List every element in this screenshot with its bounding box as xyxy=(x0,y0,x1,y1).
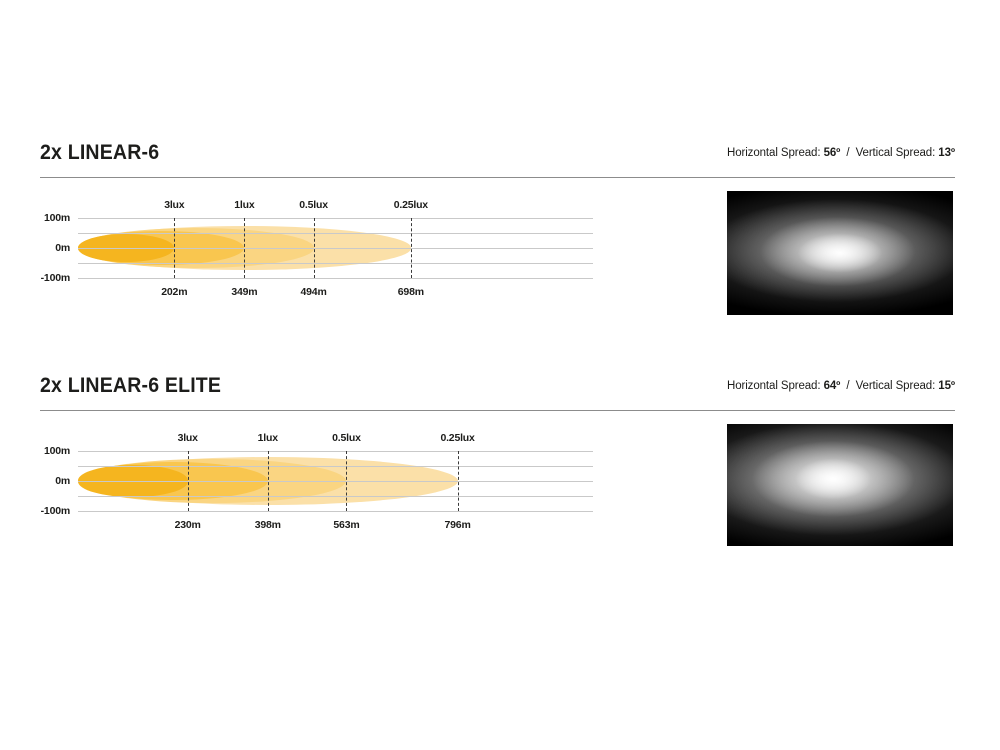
y-axis-tick-label: 100m xyxy=(10,446,70,457)
horizontal-spread-value: 64º xyxy=(824,380,841,392)
lux-level-label: 0.25lux xyxy=(394,199,428,211)
product-block-linear-6: 2x LINEAR-6 Horizontal Spread: 56º / Ver… xyxy=(0,140,1000,178)
beam-pattern-photo xyxy=(727,191,953,315)
gridline xyxy=(78,248,593,249)
product-header: 2x LINEAR-6 ELITE Horizontal Spread: 64º… xyxy=(0,373,1000,411)
lux-distance-label: 398m xyxy=(255,519,281,531)
gridline xyxy=(78,511,593,512)
lux-distance-label: 202m xyxy=(161,286,187,298)
plot-area xyxy=(78,218,593,278)
product-block-linear-6-elite: 2x LINEAR-6 ELITE Horizontal Spread: 64º… xyxy=(0,373,1000,411)
spread-info: Horizontal Spread: 64º / Vertical Spread… xyxy=(727,378,955,394)
gridline xyxy=(78,218,593,219)
lux-distance-label: 563m xyxy=(333,519,359,531)
lux-tick-line xyxy=(411,218,412,278)
lux-level-label: 3lux xyxy=(178,432,198,444)
spread-separator: / xyxy=(843,378,852,394)
gridline xyxy=(78,466,593,467)
lux-tick-line xyxy=(346,451,347,511)
vertical-spread-value: 15º xyxy=(938,380,955,392)
gridline xyxy=(78,481,593,482)
y-axis-tick-label: 0m xyxy=(10,476,70,487)
spread-separator: / xyxy=(843,145,852,161)
horizontal-spread-value: 56º xyxy=(824,147,841,159)
lux-tick-line xyxy=(314,218,315,278)
lux-level-label: 0.5lux xyxy=(299,199,328,211)
vertical-spread-value: 13º xyxy=(938,147,955,159)
product-header: 2x LINEAR-6 Horizontal Spread: 56º / Ver… xyxy=(0,140,1000,178)
vertical-spread-label: Vertical Spread: xyxy=(856,380,936,392)
y-axis-tick-label: -100m xyxy=(10,506,70,517)
spread-info: Horizontal Spread: 56º / Vertical Spread… xyxy=(727,145,955,161)
page-title: 2x LINEAR-6 ELITE xyxy=(40,373,221,398)
lux-tick-line xyxy=(244,218,245,278)
beam-distance-chart: 100m0m-100m3lux202m1lux349m0.5lux494m0.2… xyxy=(0,178,640,318)
beam-comparison-page: 2x LINEAR-6 Horizontal Spread: 56º / Ver… xyxy=(0,0,1000,750)
horizontal-spread-label: Horizontal Spread: xyxy=(727,147,820,159)
lux-distance-label: 796m xyxy=(445,519,471,531)
lux-tick-line xyxy=(268,451,269,511)
lux-level-label: 1lux xyxy=(234,199,254,211)
y-axis-labels: 100m0m-100m xyxy=(8,218,70,278)
y-axis-tick-label: -100m xyxy=(10,273,70,284)
y-axis-labels: 100m0m-100m xyxy=(8,451,70,511)
beam-distance-chart: 100m0m-100m3lux230m1lux398m0.5lux563m0.2… xyxy=(0,411,640,551)
beam-glow xyxy=(727,191,953,315)
gridline xyxy=(78,451,593,452)
lux-level-label: 0.25lux xyxy=(440,432,474,444)
y-axis-tick-label: 0m xyxy=(10,243,70,254)
lux-distance-label: 230m xyxy=(175,519,201,531)
lux-level-label: 1lux xyxy=(258,432,278,444)
lux-tick-line xyxy=(188,451,189,511)
vertical-spread-label: Vertical Spread: xyxy=(856,147,936,159)
lux-level-label: 0.5lux xyxy=(332,432,361,444)
horizontal-spread-label: Horizontal Spread: xyxy=(727,380,820,392)
beam-glow xyxy=(727,424,953,546)
gridline xyxy=(78,263,593,264)
lux-distance-label: 698m xyxy=(398,286,424,298)
page-title: 2x LINEAR-6 xyxy=(40,140,159,165)
gridline xyxy=(78,496,593,497)
lux-distance-label: 349m xyxy=(231,286,257,298)
gridline xyxy=(78,278,593,279)
gridline xyxy=(78,233,593,234)
lux-level-label: 3lux xyxy=(164,199,184,211)
beam-pattern-photo xyxy=(727,424,953,546)
lux-distance-label: 494m xyxy=(301,286,327,298)
plot-area xyxy=(78,451,593,511)
lux-tick-line xyxy=(174,218,175,278)
lux-tick-line xyxy=(458,451,459,511)
y-axis-tick-label: 100m xyxy=(10,213,70,224)
